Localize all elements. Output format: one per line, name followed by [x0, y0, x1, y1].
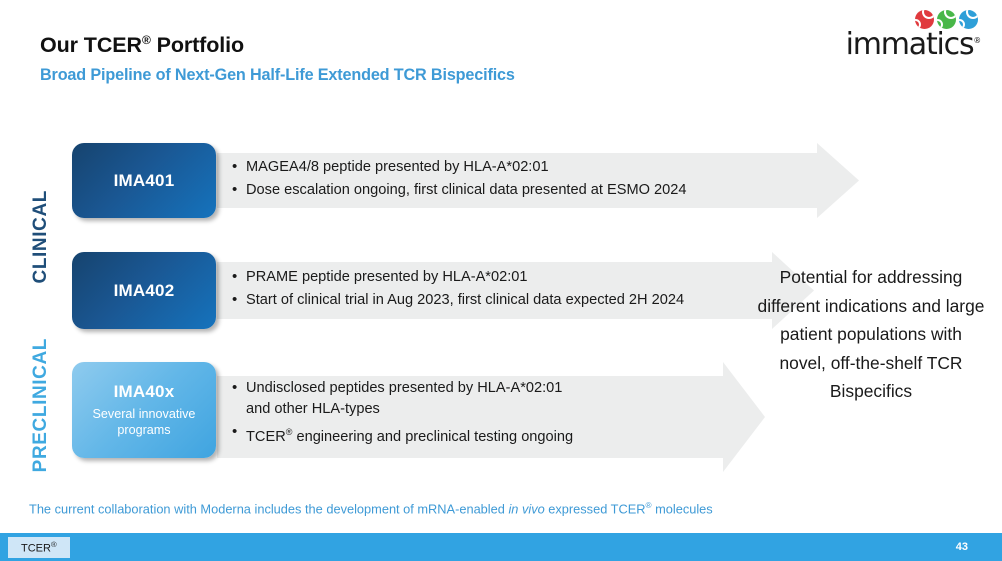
- footnote-text-c: molecules: [652, 501, 713, 516]
- stage-label-clinical: CLINICAL: [30, 190, 52, 283]
- immatics-logo: immatics®: [850, 10, 980, 60]
- logo-registered-mark-icon: ®: [973, 36, 980, 45]
- stage-label-preclinical: PRECLINICAL: [30, 338, 52, 472]
- program-card-ima401[interactable]: IMA401: [72, 143, 216, 218]
- program-card-name: IMA40x: [114, 382, 175, 402]
- page-title-tail: Portfolio: [151, 33, 244, 57]
- page-number: 43: [956, 541, 968, 553]
- page-subtitle: Broad Pipeline of Next-Gen Half-Life Ext…: [40, 66, 515, 85]
- program-card-subtitle: Several innovative programs: [72, 406, 216, 438]
- bullet-item: MAGEA4/8 peptide presented by HLA-A*02:0…: [232, 157, 687, 178]
- footnote: The current collaboration with Moderna i…: [29, 501, 713, 516]
- program-card-name: IMA401: [114, 171, 175, 191]
- footnote-text-b: expressed TCER: [545, 501, 646, 516]
- footer-bar: TCER® 43: [0, 533, 1002, 561]
- pipeline-bullets-ima401: MAGEA4/8 peptide presented by HLA-A*02:0…: [232, 157, 687, 203]
- footnote-text-a: The current collaboration with Moderna i…: [29, 501, 508, 516]
- footnote-italic: in vivo: [508, 501, 544, 516]
- bullet-item: Undisclosed peptides presented by HLA-A*…: [232, 378, 573, 420]
- logo-wordmark-text: immatics: [846, 27, 974, 62]
- summary-statement: Potential for addressing different indic…: [757, 263, 985, 406]
- program-card-ima40x[interactable]: IMA40x Several innovative programs: [72, 362, 216, 458]
- bullet-text-b: engineering and preclinical testing ongo…: [292, 429, 573, 445]
- registered-mark-icon: ®: [142, 33, 151, 47]
- page-title-main: Our TCER: [40, 33, 142, 57]
- registered-mark-icon: ®: [51, 540, 57, 549]
- bullet-item: TCER® engineering and preclinical testin…: [232, 422, 573, 448]
- program-card-ima402[interactable]: IMA402: [72, 252, 216, 329]
- bullet-item: Start of clinical trial in Aug 2023, fir…: [232, 290, 684, 311]
- program-card-name: IMA402: [114, 281, 175, 301]
- bullet-text-a: TCER: [246, 429, 286, 445]
- bullet-item: PRAME peptide presented by HLA-A*02:01: [232, 267, 684, 288]
- bullet-line-1: Undisclosed peptides presented by HLA-A*…: [246, 380, 562, 396]
- footer-tag-text: TCER: [21, 543, 51, 555]
- page-title: Our TCER® Portfolio: [40, 33, 244, 58]
- footer-tag-tcer[interactable]: TCER®: [8, 537, 70, 558]
- logo-wordmark: immatics®: [846, 27, 980, 62]
- pipeline-bullets-ima40x: Undisclosed peptides presented by HLA-A*…: [232, 378, 573, 450]
- bullet-item: Dose escalation ongoing, first clinical …: [232, 180, 687, 201]
- pipeline-bullets-ima402: PRAME peptide presented by HLA-A*02:01 S…: [232, 267, 684, 313]
- bullet-line-2: and other HLA-types: [246, 399, 573, 420]
